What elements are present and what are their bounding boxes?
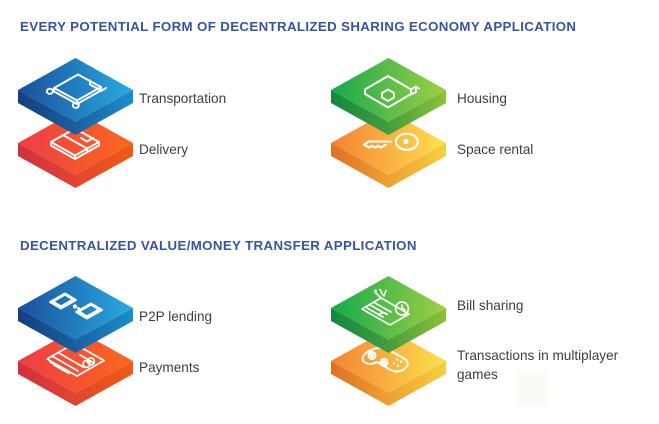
section-heading-value-money-transfer: DECENTRALIZED VALUE/MONEY TRANSFER APPLI… (20, 238, 417, 253)
label-bill-sharing: Bill sharing (457, 296, 524, 315)
infographic-canvas: EVERY POTENTIAL FORM OF DECENTRALIZED SH… (0, 0, 659, 424)
highlight-block (516, 373, 547, 406)
cube-transportation[interactable] (18, 58, 133, 136)
icon-stack-transportation-delivery (18, 58, 133, 183)
cube-p2p-lending[interactable] (18, 276, 133, 354)
label-payments: Payments (139, 358, 199, 377)
label-p2p-lending: P2P lending (139, 307, 212, 326)
cube-housing[interactable] (331, 58, 446, 136)
label-housing: Housing (457, 89, 507, 108)
section-heading-sharing-economy: EVERY POTENTIAL FORM OF DECENTRALIZED SH… (20, 19, 576, 34)
label-transportation: Transportation (139, 89, 226, 108)
truck-icon (18, 58, 133, 136)
two-phones-icon (18, 276, 133, 354)
icon-stack-housing-space-rental (331, 58, 446, 183)
label-transactions-multiplayer-games: Transactions in multiplayer games (457, 346, 642, 384)
house-icon (331, 58, 446, 136)
label-space-rental: Space rental (457, 140, 533, 159)
icon-stack-bill-sharing-transactions (331, 276, 446, 401)
icon-stack-p2p-payments (18, 276, 133, 401)
label-delivery: Delivery (139, 140, 188, 159)
cube-bill-sharing[interactable] (331, 276, 446, 354)
receipt-hand-icon (331, 276, 446, 354)
